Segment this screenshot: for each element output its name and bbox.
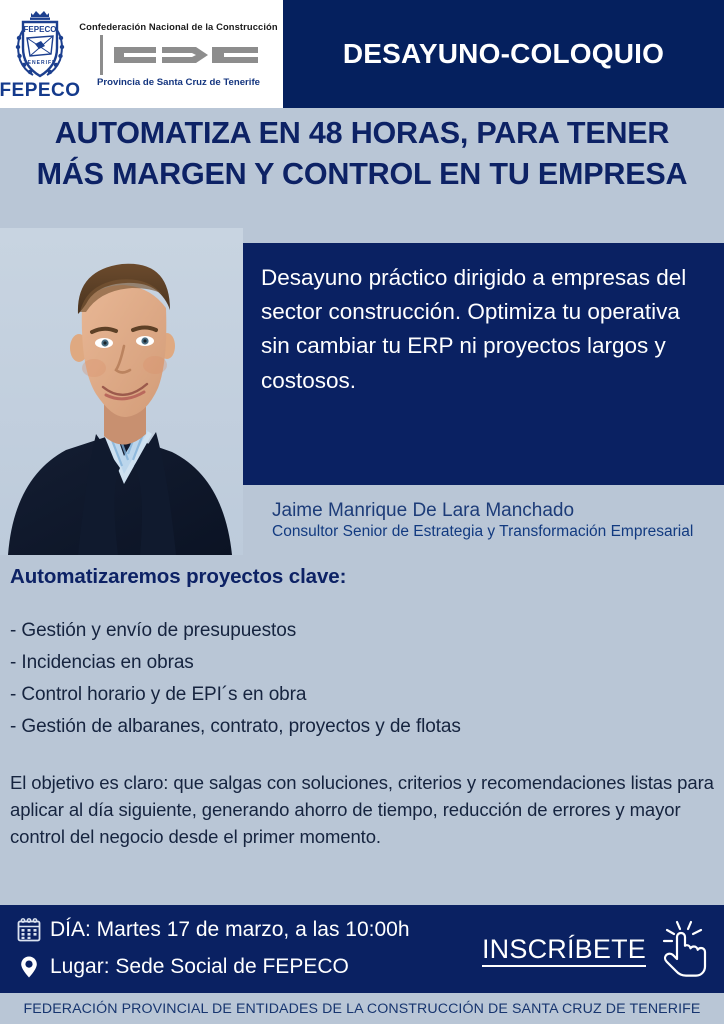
footer-text: FEDERACIÓN PROVINCIAL DE ENTIDADES DE LA… — [24, 1001, 701, 1017]
event-date-text: DÍA: Martes 17 de marzo, a las 10:00h — [50, 918, 410, 942]
footer: FEDERACIÓN PROVINCIAL DE ENTIDADES DE LA… — [0, 993, 724, 1024]
cnc-mark-row — [78, 35, 279, 75]
speaker-block: Jaime Manrique De Lara Manchado Consulto… — [272, 500, 724, 542]
header-title: DESAYUNO-COLOQUIO — [283, 0, 724, 108]
pointing-hand-click-icon[interactable] — [654, 919, 716, 981]
svg-text:TENERIFE: TENERIFE — [24, 60, 57, 66]
calendar-icon — [14, 915, 44, 945]
speaker-name: Jaime Manrique De Lara Manchado — [272, 500, 724, 522]
description-text: Desayuno práctico dirigido a empresas de… — [261, 261, 706, 398]
speaker-role: Consultor Senior de Estrategia y Transfo… — [272, 523, 724, 542]
key-projects-list: - Gestión y envío de presupuestos - Inci… — [10, 615, 714, 743]
cnc-bottom-line: Provincia de Santa Cruz de Tenerife — [97, 77, 260, 88]
list-item: - Gestión y envío de presupuestos — [10, 615, 714, 647]
list-item: - Control horario y de EPI´s en obra — [10, 679, 714, 711]
header-bar: FEPECO TENERIFE FEPECO Confederación Nac… — [0, 0, 724, 108]
list-item: - Gestión de albaranes, contrato, proyec… — [10, 711, 714, 743]
svg-text:FEPECO: FEPECO — [24, 25, 57, 34]
location-pin-icon — [14, 952, 44, 982]
cnc-mark-icon — [112, 42, 260, 68]
register-cta[interactable]: INSCRÍBETE — [482, 921, 716, 981]
register-label[interactable]: INSCRÍBETE — [482, 935, 646, 967]
headline-line-2: MÁS MARGEN Y CONTROL EN TU EMPRESA — [0, 154, 724, 195]
description-box: Desayuno práctico dirigido a empresas de… — [243, 243, 724, 485]
cnc-logo: Confederación Nacional de la Construcció… — [78, 21, 283, 88]
header-title-text: DESAYUNO-COLOQUIO — [343, 38, 664, 70]
poster-root: FEPECO TENERIFE FEPECO Confederación Nac… — [0, 0, 724, 1024]
fepeco-logo: FEPECO TENERIFE FEPECO — [0, 0, 78, 108]
fepeco-crest-icon: FEPECO TENERIFE — [11, 8, 69, 80]
list-item: - Incidencias en obras — [10, 647, 714, 679]
body-lead: Automatizaremos proyectos clave: — [10, 565, 714, 589]
event-place-text: Lugar: Sede Social de FEPECO — [50, 955, 349, 979]
headline: AUTOMATIZA EN 48 HORAS, PARA TENER MÁS M… — [0, 113, 724, 194]
cnc-top-line: Confederación Nacional de la Construcció… — [79, 21, 277, 32]
body-section: Automatizaremos proyectos clave: - Gesti… — [10, 565, 714, 850]
event-bar: DÍA: Martes 17 de marzo, a las 10:00h Lu… — [0, 905, 724, 993]
fepeco-wordmark: FEPECO — [0, 81, 81, 100]
event-details: DÍA: Martes 17 de marzo, a las 10:00h Lu… — [14, 915, 484, 989]
logo-plate: FEPECO TENERIFE FEPECO Confederación Nac… — [0, 0, 283, 108]
event-place-row: Lugar: Sede Social de FEPECO — [14, 952, 484, 982]
speaker-photo — [0, 228, 243, 555]
event-date-row: DÍA: Martes 17 de marzo, a las 10:00h — [14, 915, 484, 945]
cnc-divider — [100, 35, 103, 75]
body-paragraph: El objetivo es claro: que salgas con sol… — [10, 769, 714, 851]
headline-line-1: AUTOMATIZA EN 48 HORAS, PARA TENER — [0, 113, 724, 154]
